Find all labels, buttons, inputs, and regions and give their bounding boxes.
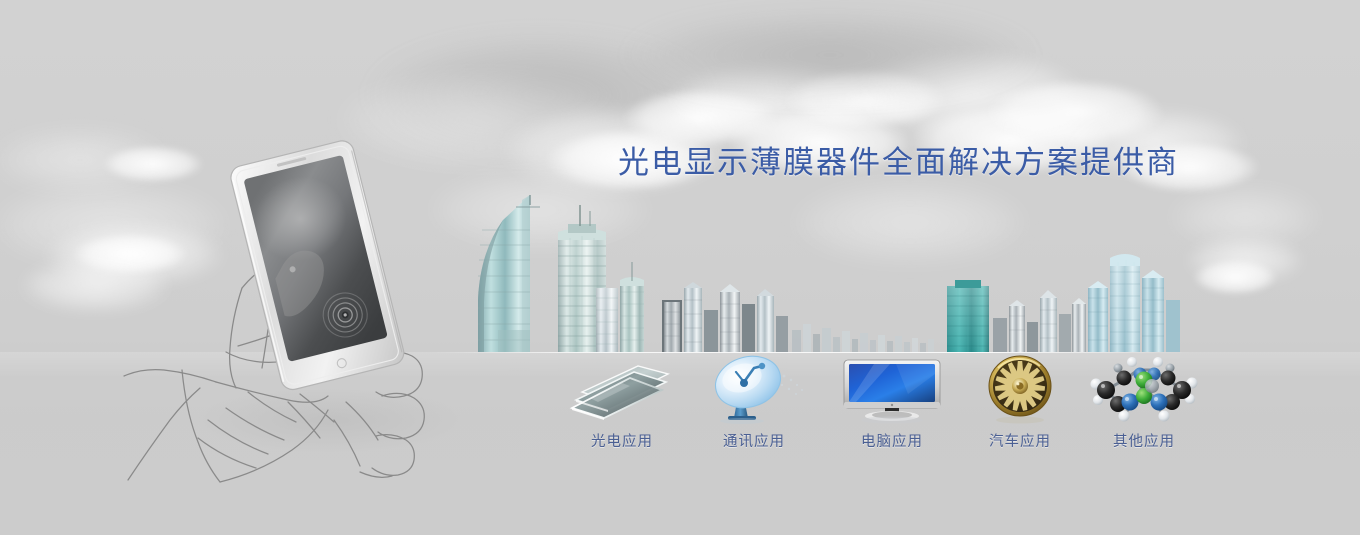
hero-banner: 光电显示薄膜器件全面解决方案提供商	[0, 0, 1360, 535]
application-item-automotive[interactable]: 汽车应用	[958, 352, 1082, 451]
application-label: 通讯应用	[692, 430, 816, 451]
monitor-icon	[830, 352, 954, 424]
molecule-icon	[1082, 352, 1206, 424]
car-wheel-icon	[958, 352, 1082, 424]
application-label: 光电应用	[560, 430, 684, 451]
burj-tower	[478, 195, 540, 352]
glass-film-panels-icon	[560, 352, 684, 424]
application-item-optoelectronic[interactable]: 光电应用	[560, 352, 684, 451]
application-item-communication[interactable]: 通讯应用	[692, 352, 816, 451]
application-label: 其他应用	[1082, 430, 1206, 451]
distant-cluster	[792, 324, 934, 352]
center-cluster	[662, 282, 788, 352]
page-title: 光电显示薄膜器件全面解决方案提供商	[618, 137, 1179, 182]
application-label: 电脑应用	[830, 430, 954, 451]
application-label: 汽车应用	[958, 430, 1082, 451]
mid-right-cluster	[993, 290, 1086, 352]
application-item-computer[interactable]: 电脑应用	[830, 352, 954, 451]
application-icon-row: 光电应用	[560, 352, 1220, 467]
application-item-other[interactable]: 其他应用	[1082, 352, 1206, 451]
teal-tower	[947, 280, 989, 352]
hand-holding-phone-illustration	[120, 120, 480, 490]
right-blue-towers	[1088, 254, 1180, 352]
satellite-dish-icon	[692, 352, 816, 424]
